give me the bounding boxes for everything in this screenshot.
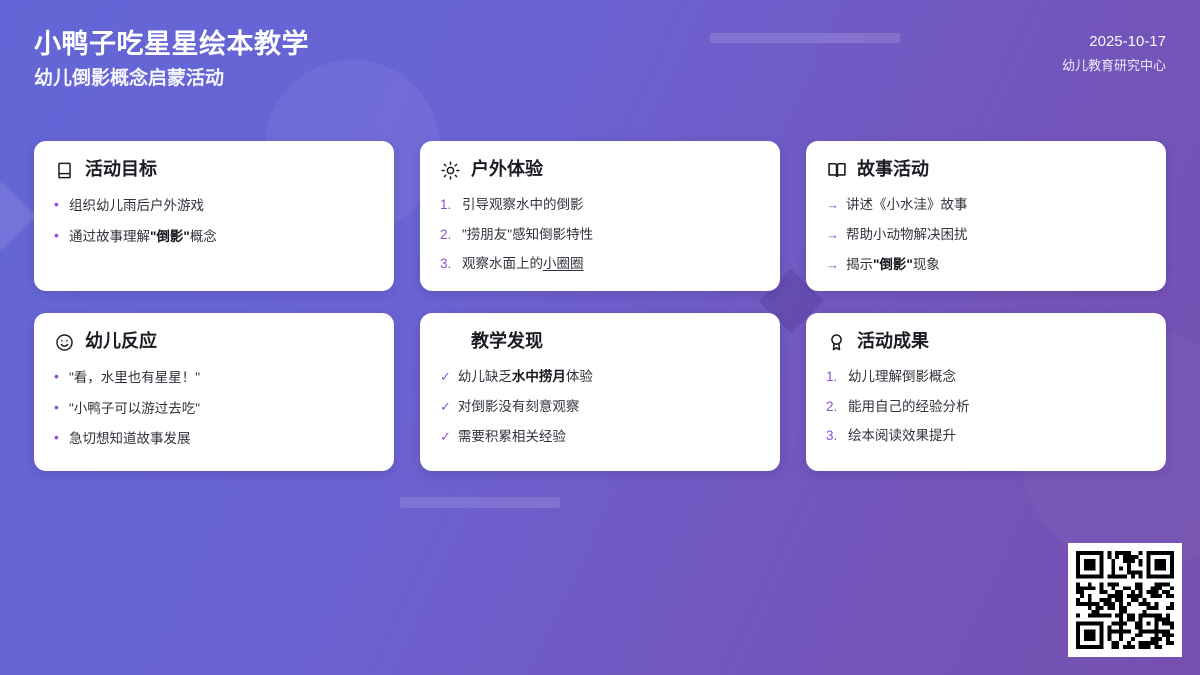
date-label: 2025-10-17 [1062,31,1166,54]
card-title: 活动目标 [85,159,157,181]
open-book-icon [826,160,847,181]
list-marker: → [826,226,839,245]
smiley-icon [54,332,75,353]
card-title: 活动成果 [857,331,929,353]
notebook-icon [54,160,75,181]
qr-code-image [1076,551,1174,649]
list-item-text: 需要积累相关经验 [458,427,566,447]
list-item: ✓需要积累相关经验 [440,427,760,447]
list-item: •"看，水里也有星星！" [54,367,374,388]
award-icon [826,332,847,353]
list-item: •组织幼儿雨后户外游戏 [54,195,374,216]
list-item: →帮助小动物解决困扰 [826,225,1146,245]
card-header: 教学发现 [440,329,760,355]
list-marker: ✓ [440,428,451,447]
card-title: 幼儿反应 [85,331,157,353]
list-item: ✓对倒影没有刻意观察 [440,397,760,417]
list-marker: 3. [440,254,455,274]
card: 户外体验1.引导观察水中的倒影2."捞朋友"感知倒影特性3.观察水面上的小圈圈 [420,141,780,291]
list-item-text: 观察水面上的小圈圈 [462,254,584,274]
list-item: →讲述《小水洼》故事 [826,195,1146,215]
card-header: 活动成果 [826,329,1146,355]
page-subtitle: 幼儿倒影概念启蒙活动 [34,66,309,93]
list-marker: ✓ [440,398,451,417]
list-marker: 1. [826,367,841,387]
decorative-diamond-left [0,182,36,250]
card-grid: 活动目标•组织幼儿雨后户外游戏•通过故事理解"倒影"概念户外体验1.引导观察水中… [34,141,1166,471]
card-header: 户外体验 [440,157,760,183]
card-list: 1.引导观察水中的倒影2."捞朋友"感知倒影特性3.观察水面上的小圈圈 [440,195,760,274]
card-header: 幼儿反应 [54,329,374,355]
card: 教学发现✓幼儿缺乏水中捞月体验✓对倒影没有刻意观察✓需要积累相关经验 [420,313,780,471]
list-item-text: "捞朋友"感知倒影特性 [462,225,593,245]
slide-header: 小鸭子吃星星绘本教学 幼儿倒影概念启蒙活动 2025-10-17 幼儿教育研究中… [0,0,1200,120]
organization-label: 幼儿教育研究中心 [1062,56,1166,77]
list-item-text: "小鸭子可以游过去吃" [69,399,200,419]
list-item-text: 帮助小动物解决困扰 [846,225,968,245]
list-marker: ✓ [440,368,451,387]
card-header: 故事活动 [826,157,1146,183]
missing-glyph-icon [440,332,461,353]
card: 活动目标•组织幼儿雨后户外游戏•通过故事理解"倒影"概念 [34,141,394,291]
list-item: •通过故事理解"倒影"概念 [54,226,374,247]
page-title: 小鸭子吃星星绘本教学 [34,26,309,62]
list-marker: 2. [440,225,455,245]
card-title: 教学发现 [471,331,543,353]
card: 幼儿反应•"看，水里也有星星！"•"小鸭子可以游过去吃"•急切想知道故事发展 [34,313,394,471]
header-meta: 2025-10-17 幼儿教育研究中心 [1062,31,1166,76]
list-item: →揭示"倒影"现象 [826,255,1146,275]
list-item: 1.引导观察水中的倒影 [440,195,760,215]
list-marker: 3. [826,426,841,446]
list-item: 2."捞朋友"感知倒影特性 [440,225,760,245]
list-marker: → [826,196,839,215]
list-item-text: 组织幼儿雨后户外游戏 [69,196,204,216]
list-item: 2.能用自己的经验分析 [826,397,1146,417]
card-list: →讲述《小水洼》故事→帮助小动物解决困扰→揭示"倒影"现象 [826,195,1146,275]
list-marker: 2. [826,397,841,417]
list-item-text: 急切想知道故事发展 [69,429,191,449]
card-list: ✓幼儿缺乏水中捞月体验✓对倒影没有刻意观察✓需要积累相关经验 [440,367,760,447]
list-marker: • [54,194,62,214]
card-list: 1.幼儿理解倒影概念2.能用自己的经验分析3.绘本阅读效果提升 [826,367,1146,446]
card-list: •组织幼儿雨后户外游戏•通过故事理解"倒影"概念 [54,195,374,246]
list-item-text: 对倒影没有刻意观察 [458,397,580,417]
list-marker: 1. [440,195,455,215]
card-header: 活动目标 [54,157,374,183]
list-item: 3.观察水面上的小圈圈 [440,254,760,274]
list-item: 1.幼儿理解倒影概念 [826,367,1146,387]
list-item-text: 幼儿理解倒影概念 [848,367,956,387]
title-block: 小鸭子吃星星绘本教学 幼儿倒影概念启蒙活动 [34,26,309,93]
card-title: 户外体验 [471,159,543,181]
qr-code[interactable] [1068,543,1182,657]
list-item: •"小鸭子可以游过去吃" [54,398,374,419]
decorative-bar-bottom [400,497,560,508]
card: 故事活动→讲述《小水洼》故事→帮助小动物解决困扰→揭示"倒影"现象 [806,141,1166,291]
card-list: •"看，水里也有星星！"•"小鸭子可以游过去吃"•急切想知道故事发展 [54,367,374,449]
slide-root: 小鸭子吃星星绘本教学 幼儿倒影概念启蒙活动 2025-10-17 幼儿教育研究中… [0,0,1200,675]
list-marker: • [54,366,62,386]
card: 活动成果1.幼儿理解倒影概念2.能用自己的经验分析3.绘本阅读效果提升 [806,313,1166,471]
list-marker: • [54,397,62,417]
sun-icon [440,160,461,181]
list-item: ✓幼儿缺乏水中捞月体验 [440,367,760,387]
list-item-text: "看，水里也有星星！" [69,368,200,388]
list-item-text: 绘本阅读效果提升 [848,426,956,446]
list-item-text: 通过故事理解"倒影"概念 [69,227,217,247]
list-item-text: 幼儿缺乏水中捞月体验 [458,367,593,387]
list-item-text: 能用自己的经验分析 [848,397,970,417]
card-title: 故事活动 [857,159,929,181]
list-item: 3.绘本阅读效果提升 [826,426,1146,446]
list-item-text: 揭示"倒影"现象 [846,255,940,275]
list-marker: → [826,256,839,275]
list-item-text: 讲述《小水洼》故事 [846,195,968,215]
list-marker: • [54,427,62,447]
list-item-text: 引导观察水中的倒影 [462,195,584,215]
list-item: •急切想知道故事发展 [54,428,374,449]
list-marker: • [54,225,62,245]
